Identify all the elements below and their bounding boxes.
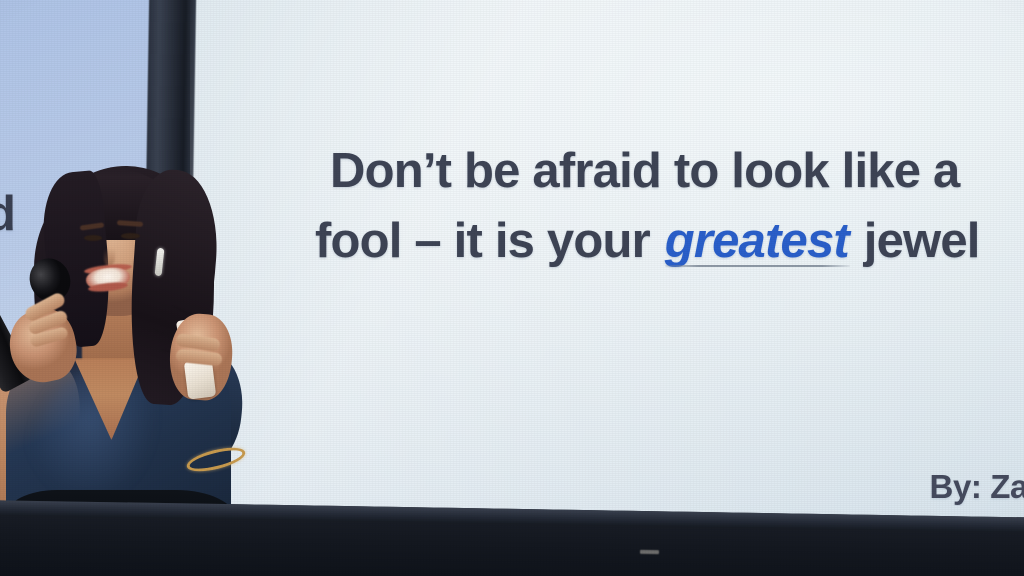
slide-quote-line-2-before: fool – it is your (315, 214, 663, 268)
nose (104, 244, 115, 266)
slide-quote-highlight-word: greatest (663, 214, 851, 268)
slide-quote-line-1: Don’t be afraid to look like a (330, 136, 1024, 206)
slide-byline: By: Za (930, 468, 1024, 506)
eye-right (121, 233, 140, 239)
bottom-bar-marking (640, 550, 659, 554)
slide-quote-line-2: fool – it is your greatest jewel (315, 206, 1024, 276)
eye-left (84, 235, 102, 241)
slide-quote: Don’t be afraid to look like a fool – it… (330, 136, 1024, 276)
slide-quote-line-2-after: jewel (851, 214, 980, 268)
presentation-photo: d Don’t be afraid to look like a fool – … (0, 0, 1024, 576)
